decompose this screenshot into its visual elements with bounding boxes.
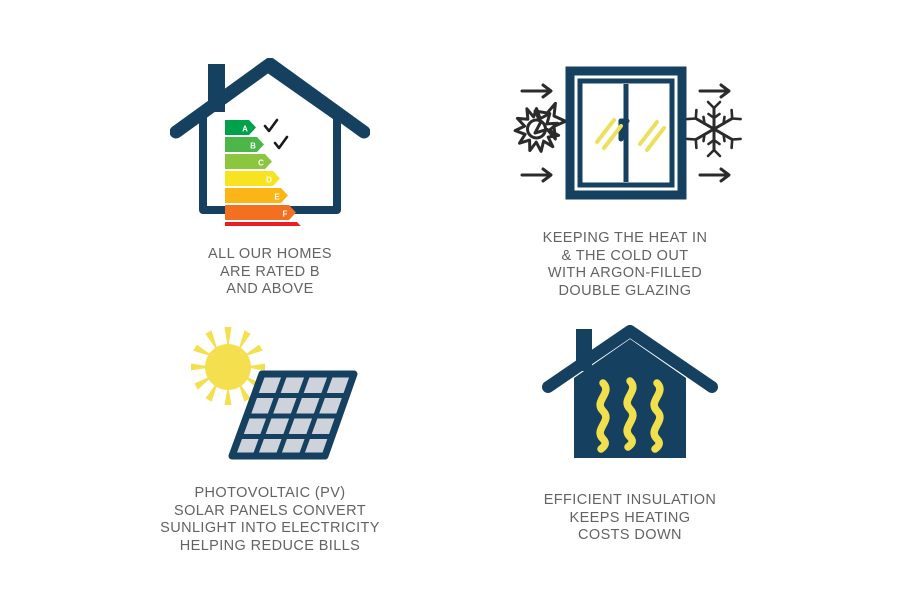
energy-bar-label-d: D [266, 175, 272, 184]
energy-bar-d: D [225, 171, 280, 186]
energy-bar-e: E [225, 188, 288, 203]
energy-bar-label-b: B [250, 141, 256, 150]
window-double-glazing-icon [500, 58, 750, 208]
energy-bar-label-c: C [258, 158, 264, 167]
house-energy-rating-icon-wrap: A B C D E [170, 58, 370, 226]
snowflake-icon [687, 102, 740, 156]
energy-bar-f: F [225, 205, 296, 220]
window-frame-group [570, 71, 682, 195]
energy-bar-b: B [225, 137, 264, 152]
glass-shine-left [597, 120, 621, 148]
window-mullion [624, 84, 629, 182]
feature-solar-pv: PHOTOVOLTAIC (PV) SOLAR PANELS CONVERT S… [155, 325, 385, 555]
feature-epc-rating: A B C D E [155, 58, 385, 299]
house-insulation-heat-icon-wrap [540, 325, 720, 470]
feature-caption: EFFICIENT INSULATION KEEPS HEATING COSTS… [544, 492, 717, 545]
energy-rating-bars: A B C D E [225, 120, 304, 226]
energy-bar-label-a: A [242, 124, 248, 133]
check-icon-a [265, 120, 277, 131]
panel-body-group [232, 374, 354, 456]
feature-caption: PHOTOVOLTAIC (PV) SOLAR PANELS CONVERT S… [160, 485, 380, 555]
glass-shine-right [640, 122, 664, 150]
house-insulation-heat-icon [540, 325, 720, 470]
sun-icon [515, 103, 566, 153]
energy-bar-c: C [225, 154, 272, 169]
window-double-glazing-icon-wrap [500, 58, 750, 208]
solar-panel-icon [170, 325, 370, 465]
house-energy-rating-icon: A B C D E [170, 58, 370, 226]
solar-panel-icon-wrap [170, 325, 370, 465]
energy-bar-label-e: E [274, 192, 280, 201]
energy-bar-a: A [225, 120, 256, 135]
energy-efficiency-infographic: A B C D E [0, 0, 900, 600]
energy-bar-g: G [225, 222, 304, 226]
sun-core-shape [205, 344, 251, 390]
check-icon-b [275, 137, 287, 148]
feature-double-glazing: KEEPING THE HEAT IN & THE COLD OUT WITH … [490, 58, 760, 300]
feature-caption: ALL OUR HOMES ARE RATED B AND ABOVE [208, 246, 332, 299]
energy-bar-label-f: F [283, 209, 288, 218]
feature-caption: KEEPING THE HEAT IN & THE COLD OUT WITH … [543, 230, 708, 300]
feature-insulation: EFFICIENT INSULATION KEEPS HEATING COSTS… [505, 325, 755, 545]
